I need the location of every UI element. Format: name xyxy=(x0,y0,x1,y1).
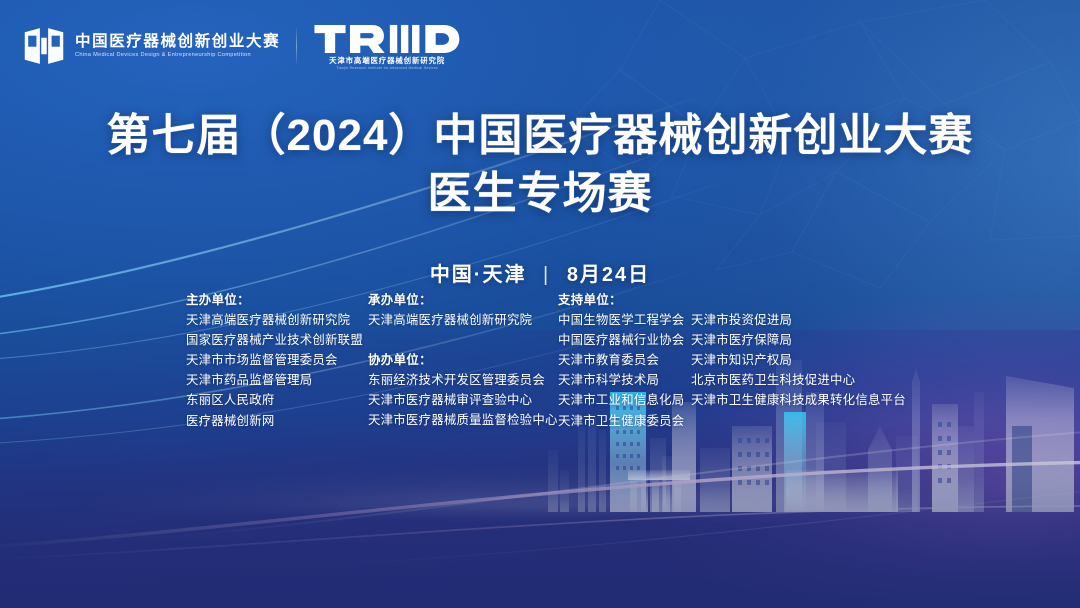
list-item: 天津市知识产权局 xyxy=(691,350,901,370)
title-line-2: 医生专场赛 xyxy=(0,168,1080,220)
units-column-support-a: 支持单位： 中国生物医学工程学会 中国医疗器械行业协会 天津市教育委员会 天津市… xyxy=(558,290,691,431)
list-item: 天津市科学技术局 xyxy=(558,370,691,390)
conference-banner: 中国医疗器械创新创业大赛 China Medical Devices Desig… xyxy=(0,0,1080,608)
event-location: 中国·天津 xyxy=(430,264,527,286)
organizer-units-heading: 承办单位： xyxy=(368,290,558,310)
trimd-logo: 天津市高端医疗器械创新研究院 Tianjin Research Institut… xyxy=(313,22,461,70)
title-line-1: 第七届（2024）中国医疗器械创新创业大赛 xyxy=(0,110,1080,162)
support-units-heading: 支持单位： xyxy=(558,290,691,310)
list-item: 天津市医疗保障局 xyxy=(691,330,901,350)
list-item: 天津市药品监督管理局 xyxy=(186,370,368,390)
logo-divider xyxy=(296,26,297,66)
event-date: 8月24日 xyxy=(567,264,650,286)
units-column-organizer: 承办单位： 天津高端医疗器械创新研究院 协办单位： 东丽经济技术开发区管理委员会… xyxy=(368,290,558,431)
column-heading-spacer xyxy=(691,290,901,310)
host-units-heading: 主办单位： xyxy=(186,290,368,310)
trimd-name-en: Tianjin Research Institute for Advanced … xyxy=(336,67,438,71)
organizer-units: 主办单位： 天津高端医疗器械创新研究院 国家医疗器械产业技术创新联盟 天津市市场… xyxy=(186,290,901,431)
list-item: 中国医疗器械行业协会 xyxy=(558,330,691,350)
list-item: 天津市卫生健康科技成果转化信息平台 xyxy=(691,390,901,410)
event-location-date: 中国·天津 | 8月24日 xyxy=(0,258,1080,287)
list-item: 东丽经济技术开发区管理委员会 xyxy=(368,370,558,390)
column-spacer xyxy=(368,330,558,350)
list-item: 东丽区人民政府 xyxy=(186,390,368,410)
open-gate-door-icon xyxy=(22,24,66,68)
page-title: 第七届（2024）中国医疗器械创新创业大赛 医生专场赛 xyxy=(0,110,1080,220)
list-item: 天津市卫生健康委员会 xyxy=(558,411,691,431)
subtitle-separator: | xyxy=(543,264,550,287)
list-item: 天津市教育委员会 xyxy=(558,350,691,370)
trimd-wordmark-icon xyxy=(313,22,461,56)
list-item: 中国生物医学工程学会 xyxy=(558,310,691,330)
header-logos: 中国医疗器械创新创业大赛 China Medical Devices Desig… xyxy=(22,22,461,70)
competition-logo-title-en: China Medical Devices Design & Entrepren… xyxy=(75,52,280,58)
list-item: 北京市医药卫生科技促进中心 xyxy=(691,370,901,390)
list-item: 天津市医疗器械质量监督检验中心 xyxy=(368,410,558,430)
trimd-name-cn: 天津市高端医疗器械创新研究院 xyxy=(329,57,445,66)
units-column-host: 主办单位： 天津高端医疗器械创新研究院 国家医疗器械产业技术创新联盟 天津市市场… xyxy=(186,290,368,431)
list-item: 国家医疗器械产业技术创新联盟 xyxy=(186,330,368,350)
list-item: 天津高端医疗器械创新研究院 xyxy=(186,310,368,330)
background-bottom-shade xyxy=(0,418,1080,608)
list-item: 天津高端医疗器械创新研究院 xyxy=(368,310,558,330)
list-item: 天津市投资促进局 xyxy=(691,310,901,330)
co-organizer-units-heading: 协办单位： xyxy=(368,350,558,370)
list-item: 天津市工业和信息化局 xyxy=(558,390,691,410)
competition-logo: 中国医疗器械创新创业大赛 China Medical Devices Desig… xyxy=(22,24,280,68)
competition-logo-title-cn: 中国医疗器械创新创业大赛 xyxy=(75,34,280,50)
units-column-support-b: 天津市投资促进局 天津市医疗保障局 天津市知识产权局 北京市医药卫生科技促进中心… xyxy=(691,290,901,410)
list-item: 医疗器械创新网 xyxy=(186,411,368,431)
list-item: 天津市医疗器械审评查验中心 xyxy=(368,390,558,410)
list-item: 天津市市场监督管理委员会 xyxy=(186,350,368,370)
